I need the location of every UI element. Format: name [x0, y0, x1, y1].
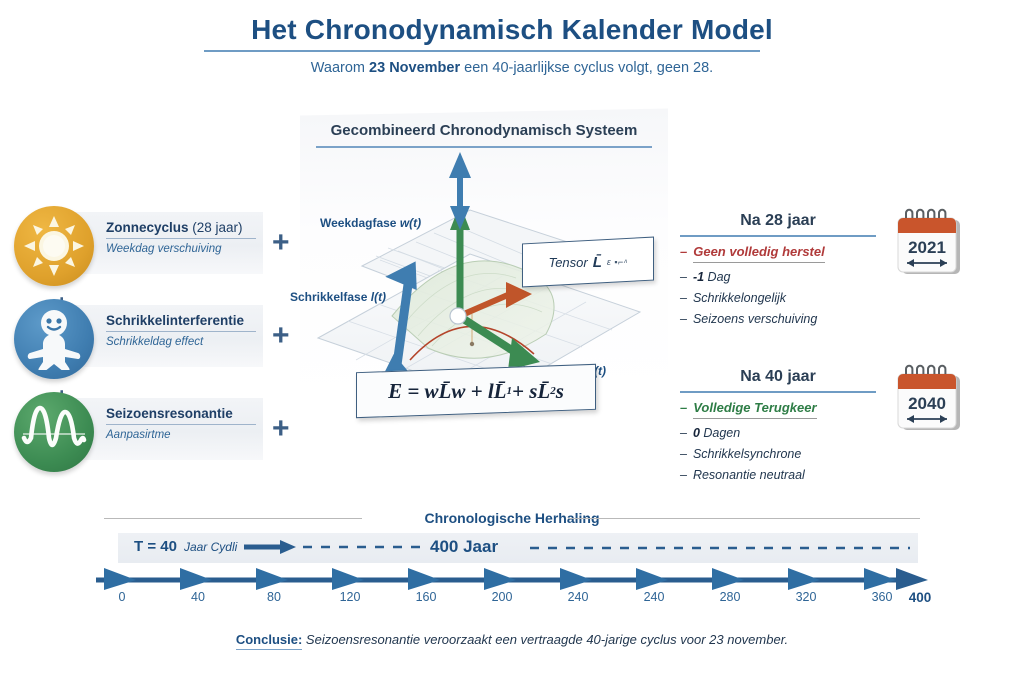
bullet-rest: Dagen: [700, 426, 740, 440]
result-bullet: – Seizoens verschuiving: [680, 312, 930, 326]
calendar-year: 2021: [908, 238, 946, 257]
bullet-text: Schrikkelsynchrone: [693, 447, 801, 461]
tensor-glyph: ε ▪⌐ᶺ: [607, 257, 628, 267]
card-divider: [106, 424, 256, 425]
bullet-dash: –: [680, 468, 687, 482]
calendar-2021: 2021: [892, 208, 968, 282]
bullet-text: Resonantie neutraal: [693, 468, 805, 482]
equation-callout: E = wL̄w + lL̄1 + sL̄2s: [356, 364, 596, 418]
timeline-span-label: 400 Jaar: [430, 537, 498, 557]
tensor-callout-inner: Tensor L̄ ε ▪⌐ᶺ: [523, 241, 653, 283]
subtitle-pre: Waarom: [311, 60, 369, 76]
conclusion-key: Conclusie:: [236, 632, 302, 650]
calendar-2040: 2040: [892, 364, 968, 438]
card-title-strong: Zonnecyclus: [106, 220, 189, 235]
bullet-dash: –: [680, 312, 687, 326]
result-divider: [680, 235, 876, 237]
axis-label-schrikkelfase: Schrikkelfase l(t): [290, 290, 386, 304]
result-bullet: – Schrikkelongelijk: [680, 291, 930, 305]
timeline-rule-right: [568, 518, 920, 519]
result-heading: Na 40 jaar: [680, 368, 876, 386]
card-text: Schrikkelinterferentie Schrikkeldag effe…: [106, 313, 266, 348]
bullet-dash: –: [680, 447, 687, 461]
dashed-line-left: [303, 544, 425, 550]
bullet-rest: Dag: [704, 270, 730, 284]
card-title: Zonnecyclus (28 jaar): [106, 220, 266, 235]
timeline-axis: [96, 566, 928, 590]
tick-label: 240: [568, 590, 589, 604]
tick-label: 320: [796, 590, 817, 604]
card-title: Seizoensresonantie: [106, 406, 266, 421]
bullet-strong: 0: [693, 426, 700, 440]
person-icon: [14, 299, 94, 379]
card-title-light: (28 jaar): [189, 220, 243, 235]
cycle-unit: Jaar Cydli: [184, 540, 237, 554]
equation-part-3: s: [556, 379, 564, 404]
tick-label: 200: [492, 590, 513, 604]
conclusion: Conclusie: Seizoensresonantie veroorzaak…: [0, 632, 1024, 647]
sun-icon: [14, 206, 94, 286]
waveform-icon: [14, 392, 94, 472]
tick-label: 40: [191, 590, 205, 604]
card-divider: [106, 238, 256, 239]
system-panel: Gecombineerd Chronodynamisch Systeem: [300, 108, 668, 405]
bullet-text: -1 Dag: [693, 270, 731, 284]
axis-var-l: l(t): [371, 290, 386, 304]
ingredient-card-zonnecyclus[interactable]: Zonnecyclus (28 jaar) Weekdag verschuivi…: [10, 206, 295, 284]
plus-icon: +: [272, 321, 290, 351]
conclusion-value: Seizoensresonantie veroorzaakt een vertr…: [306, 632, 788, 647]
result-highlight: Geen volledig herstel: [693, 244, 825, 263]
timeline-rule-left: [104, 518, 362, 519]
arrow-right-icon: [244, 540, 296, 554]
tensor-callout: Tensor L̄ ε ▪⌐ᶺ: [522, 237, 654, 288]
result-block-28: Na 28 jaar – Geen volledig herstel – -1 …: [680, 212, 930, 326]
page-title: Het Chronodynamisch Kalender Model: [0, 14, 1024, 46]
card-subtitle: Aanpasirtme: [106, 429, 266, 441]
plus-icon: +: [272, 228, 290, 258]
subtitle-post: een 40-jaarlijkse cyclus volgt, geen 28.: [460, 60, 713, 76]
bullet-dash: –: [680, 244, 687, 263]
bullet-text: 0 Dagen: [693, 426, 740, 440]
cycle-value: T = 40: [134, 538, 177, 555]
bullet-dash: –: [680, 400, 687, 419]
equation-part-2: + sL̄: [512, 379, 550, 404]
axes-diagram: Weekdagfase w(t) Schrikkelfase l(t) Seiz…: [300, 148, 668, 402]
calendar-year: 2040: [908, 394, 946, 413]
result-bullet: – Schrikkelsynchrone: [680, 447, 930, 461]
tick-label: 280: [720, 590, 741, 604]
tick-label: 400: [909, 590, 932, 605]
tensor-symbol: L̄: [593, 254, 602, 271]
infographic-root: Het Chronodynamisch Kalender Model Waaro…: [0, 0, 1024, 683]
tick-label: 160: [416, 590, 437, 604]
title-underline: [204, 50, 760, 52]
subtitle-highlight: 23 November: [369, 60, 460, 76]
ingredients-list: Zonnecyclus (28 jaar) Weekdag verschuivi…: [10, 206, 295, 485]
tick-label: 0: [119, 590, 126, 604]
tick-label: 80: [267, 590, 281, 604]
bullet-dash: –: [680, 426, 687, 440]
equation-text: E = wL̄w + lL̄1 + sL̄2s: [357, 369, 595, 413]
bullet-dash: –: [680, 270, 687, 284]
result-heading: Na 28 jaar: [680, 212, 876, 230]
result-highlight: Volledige Terugkeer: [693, 400, 816, 419]
axis-var-w: w(t): [400, 216, 421, 230]
bullet-text: Seizoens verschuiving: [693, 312, 817, 326]
card-text: Zonnecyclus (28 jaar) Weekdag verschuivi…: [106, 220, 266, 255]
bullet-strong: -1: [693, 270, 704, 284]
ingredient-card-schrikkelinterferentie[interactable]: Schrikkelinterferentie Schrikkeldag effe…: [10, 299, 295, 377]
bullet-dash: –: [680, 291, 687, 305]
tensor-label: Tensor: [548, 255, 587, 270]
tick-label: 360: [872, 590, 893, 604]
bullet-text: Schrikkelongelijk: [693, 291, 786, 305]
dashed-line-right: [530, 545, 910, 551]
tick-label: 240: [644, 590, 665, 604]
tick-label: 120: [340, 590, 361, 604]
timeline-ticks: 0 40 80 120 160 200 240 240 280 320 360 …: [96, 590, 928, 610]
plus-icon: +: [272, 414, 290, 444]
page-subtitle: Waarom 23 November een 40-jaarlijkse cyc…: [0, 60, 1024, 76]
card-divider: [106, 331, 256, 332]
system-panel-inner: Gecombineerd Chronodynamisch Systeem: [300, 112, 668, 402]
timeline-cycle-label: T = 40 Jaar Cydli: [134, 538, 425, 555]
result-block-40: Na 40 jaar – Volledige Terugkeer – 0 Dag…: [680, 368, 930, 482]
card-subtitle: Schrikkeldag effect: [106, 336, 266, 348]
system-panel-title: Gecombineerd Chronodynamisch Systeem: [300, 122, 668, 139]
card-text: Seizoensresonantie Aanpasirtme: [106, 406, 266, 441]
card-title: Schrikkelinterferentie: [106, 313, 266, 328]
result-divider: [680, 391, 876, 393]
result-bullet: – Resonantie neutraal: [680, 468, 930, 482]
card-subtitle: Weekdag verschuiving: [106, 243, 266, 255]
ingredient-card-seizoensresonantie[interactable]: Seizoensresonantie Aanpasirtme +: [10, 392, 295, 470]
axis-label-weekdagfase: Weekdagfase w(t): [320, 216, 421, 230]
equation-part-1: E = wL̄w + lL̄: [388, 379, 506, 404]
